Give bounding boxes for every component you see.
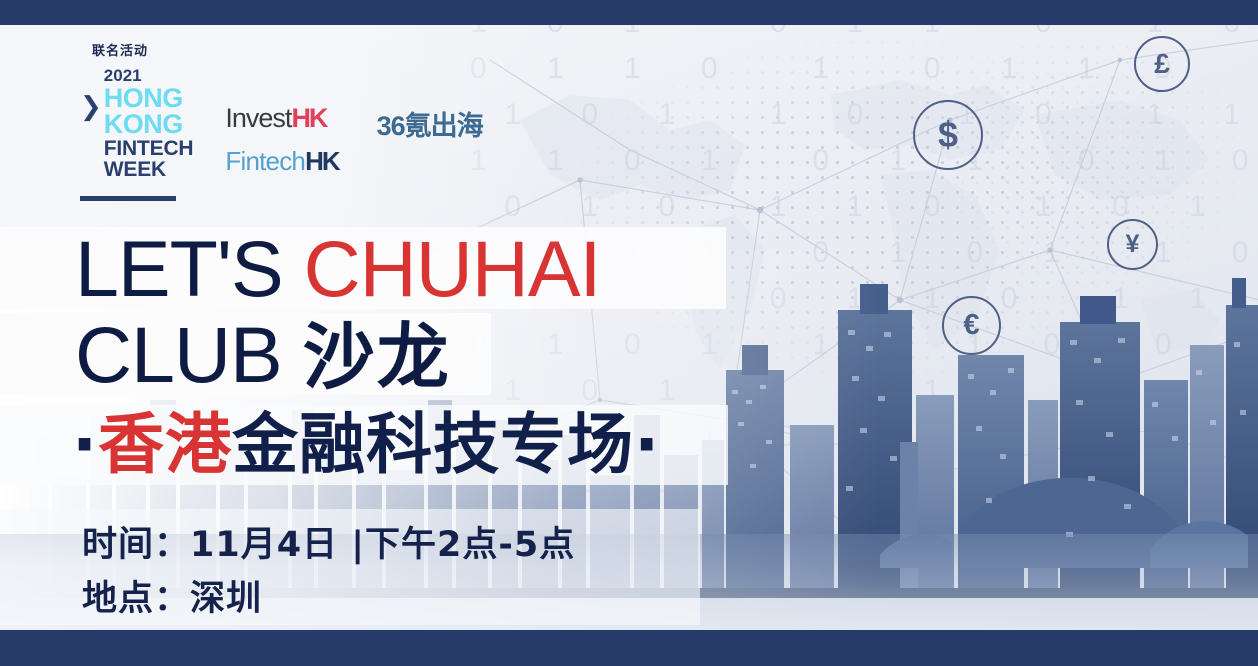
investhk-mark: HK bbox=[291, 103, 326, 133]
event-details: 时间：11月4日 |下午2点-5点 地点：深圳 bbox=[82, 518, 575, 626]
headline-hongkong: 香港 bbox=[98, 406, 232, 483]
fintechhk-word: Fintech bbox=[225, 146, 305, 176]
investhk-logo: InvestHK bbox=[225, 105, 338, 132]
fintechhk-logo: FintechHK bbox=[225, 148, 338, 174]
header-divider bbox=[80, 196, 176, 201]
headline-chuhai: CHUHAI bbox=[304, 224, 601, 313]
hkfw-line-kong: KONG bbox=[104, 111, 194, 137]
headline-line-1: LET'S CHUHAI bbox=[75, 228, 600, 310]
investhk-word: Invest bbox=[225, 103, 291, 133]
headline-lets: LET'S bbox=[75, 224, 304, 313]
currency-badge-jpy-icon: ¥ bbox=[1107, 219, 1158, 270]
cobrand-label: 联名活动 bbox=[92, 40, 483, 59]
event-banner: 1 0 1 0 1 1 0 1 0 1 0 1 1 0 1 0 1 1 0 1 … bbox=[0, 0, 1258, 666]
hkfw-year: 2021 bbox=[104, 67, 194, 84]
logo-row: 联名活动 ❯ 2021 HONG KONG FINTECH WEEK Inves… bbox=[80, 40, 483, 181]
chevron-right-icon: ❯ bbox=[80, 93, 102, 119]
event-time: 时间：11月4日 |下午2点-5点 bbox=[82, 518, 575, 572]
hkfw-line-fintech: FINTECH bbox=[104, 138, 194, 159]
event-location: 地点：深圳 bbox=[82, 572, 575, 626]
top-navy-bar bbox=[0, 0, 1258, 25]
currency-badge-usd-icon: $ bbox=[913, 100, 983, 170]
headline-dot-right: · bbox=[634, 406, 660, 483]
headline-shalong: 沙龙 bbox=[303, 315, 451, 399]
headline-dot-left: · bbox=[72, 406, 98, 483]
headline-line-2: CLUB 沙龙 bbox=[75, 314, 451, 398]
hkfw-line-week: WEEK bbox=[104, 159, 194, 180]
headline-line-3: ·香港金融科技专场· bbox=[72, 406, 660, 484]
currency-badge-gbp-icon: £ bbox=[1134, 36, 1190, 92]
currency-badge-eur-icon: € bbox=[942, 296, 1001, 355]
kr36-chuhai-logo: 36氪出海 bbox=[377, 67, 483, 140]
headline-club: CLUB bbox=[75, 310, 303, 399]
fintechhk-mark: HK bbox=[305, 146, 339, 176]
bottom-navy-bar bbox=[0, 630, 1258, 666]
hong-kong-fintech-week-logo: ❯ 2021 HONG KONG FINTECH WEEK bbox=[80, 67, 193, 181]
headline-fintech-session: 金融科技专场 bbox=[232, 406, 634, 483]
hkfw-line-hong: HONG bbox=[104, 85, 194, 111]
hk-gov-logos: InvestHK FintechHK bbox=[225, 67, 338, 174]
